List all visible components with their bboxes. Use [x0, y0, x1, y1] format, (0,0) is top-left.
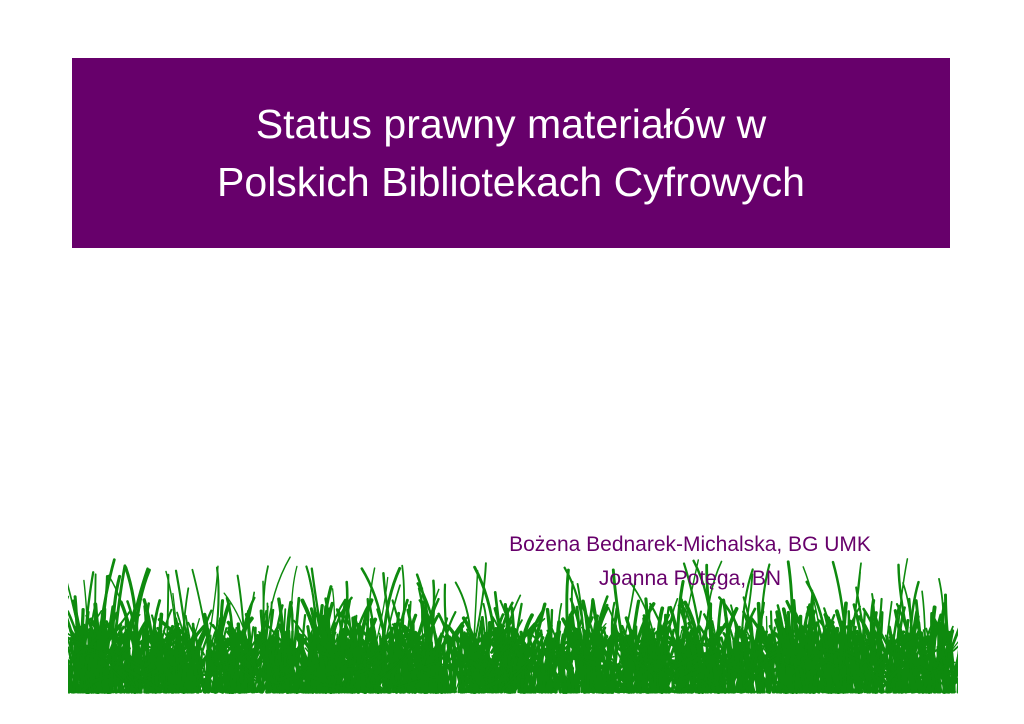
title-banner: Status prawny materiałów w Polskich Bibl…	[72, 58, 950, 248]
page-title: Status prawny materiałów w Polskich Bibl…	[207, 95, 815, 211]
presentation-slide: Status prawny materiałów w Polskich Bibl…	[0, 0, 1024, 724]
author-line-1: Bożena Bednarek-Michalska, BG UMK	[390, 528, 990, 562]
author-block: Bożena Bednarek-Michalska, BG UMK Joanna…	[390, 528, 990, 596]
author-line-2: Joanna Potęga, BN	[390, 562, 990, 596]
